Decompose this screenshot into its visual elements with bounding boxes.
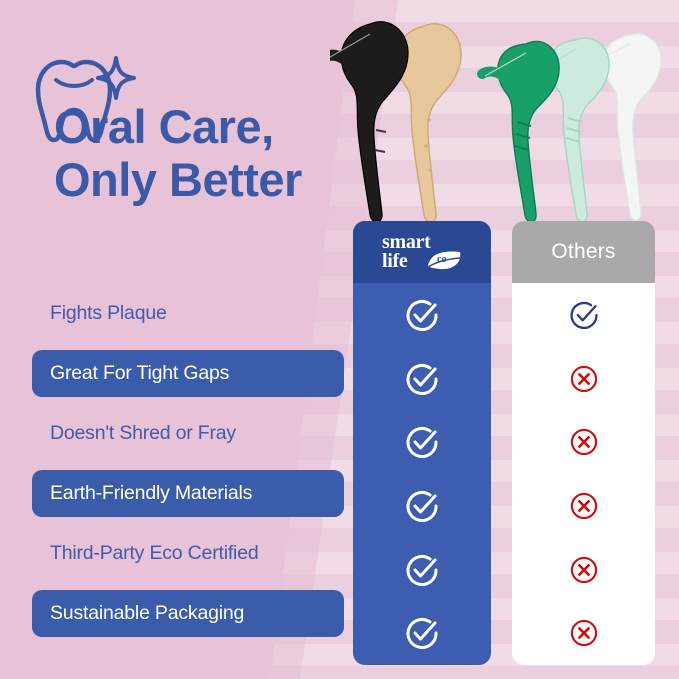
others-cell-5 [512, 538, 655, 602]
leaf-icon: co [426, 250, 466, 270]
feature-label: Great For Tight Gaps [50, 362, 229, 385]
check-circle-icon [568, 299, 600, 331]
feature-label: Doesn't Shred or Fray [50, 422, 236, 445]
check-circle-icon [404, 488, 440, 524]
others-cell-1 [512, 283, 655, 347]
product-image-group [330, 0, 679, 225]
others-column-header: Others [512, 221, 655, 283]
check-circle-icon [404, 424, 440, 460]
promo-image: Oral Care, Only Better Fights Plaque Gre… [0, 0, 679, 679]
check-circle-icon [404, 297, 440, 333]
logo-line-2: life [382, 250, 407, 272]
brand-cell-1 [353, 283, 491, 347]
feature-label: Sustainable Packaging [50, 602, 244, 625]
feature-row-1: Fights Plaque [32, 290, 344, 337]
check-circle-icon [404, 615, 440, 651]
feature-label: Third-Party Eco Certified [50, 542, 258, 565]
floss-picks-illustration [330, 0, 679, 225]
page-title: Oral Care, Only Better [54, 100, 302, 206]
feature-list: Fights Plaque Great For Tight Gaps Doesn… [32, 290, 344, 650]
cross-circle-icon [569, 364, 599, 394]
feature-row-3: Doesn't Shred or Fray [32, 410, 344, 457]
check-circle-icon [404, 552, 440, 588]
brand-cell-6 [353, 601, 491, 665]
others-label: Others [551, 240, 615, 264]
brand-logo: smart life co [374, 231, 470, 273]
brand-column-card: smart life co [353, 221, 491, 665]
brand-cell-5 [353, 538, 491, 602]
cross-circle-icon [569, 618, 599, 648]
feature-label: Fights Plaque [50, 302, 167, 325]
floss-pick-green [482, 41, 559, 222]
brand-cell-2 [353, 347, 491, 411]
others-cell-4 [512, 474, 655, 538]
feature-row-4: Earth-Friendly Materials [32, 470, 344, 517]
cross-circle-icon [569, 427, 599, 457]
brand-column-header: smart life co [353, 221, 491, 283]
brand-logo-text: smart life [382, 233, 430, 271]
others-cell-6 [512, 601, 655, 665]
feature-row-2: Great For Tight Gaps [32, 350, 344, 397]
feature-label: Earth-Friendly Materials [50, 482, 252, 505]
cross-circle-icon [569, 555, 599, 585]
brand-status-icons [353, 283, 491, 665]
leaf-badge-text: co [437, 254, 446, 265]
others-cell-3 [512, 410, 655, 474]
brand-cell-4 [353, 474, 491, 538]
others-cell-2 [512, 347, 655, 411]
floss-pick-black [330, 22, 408, 222]
feature-row-5: Third-Party Eco Certified [32, 530, 344, 577]
others-status-icons [512, 283, 655, 665]
cross-circle-icon [569, 491, 599, 521]
others-column-card: Others [512, 221, 655, 665]
brand-cell-3 [353, 410, 491, 474]
check-circle-icon [404, 361, 440, 397]
feature-row-6: Sustainable Packaging [32, 590, 344, 637]
